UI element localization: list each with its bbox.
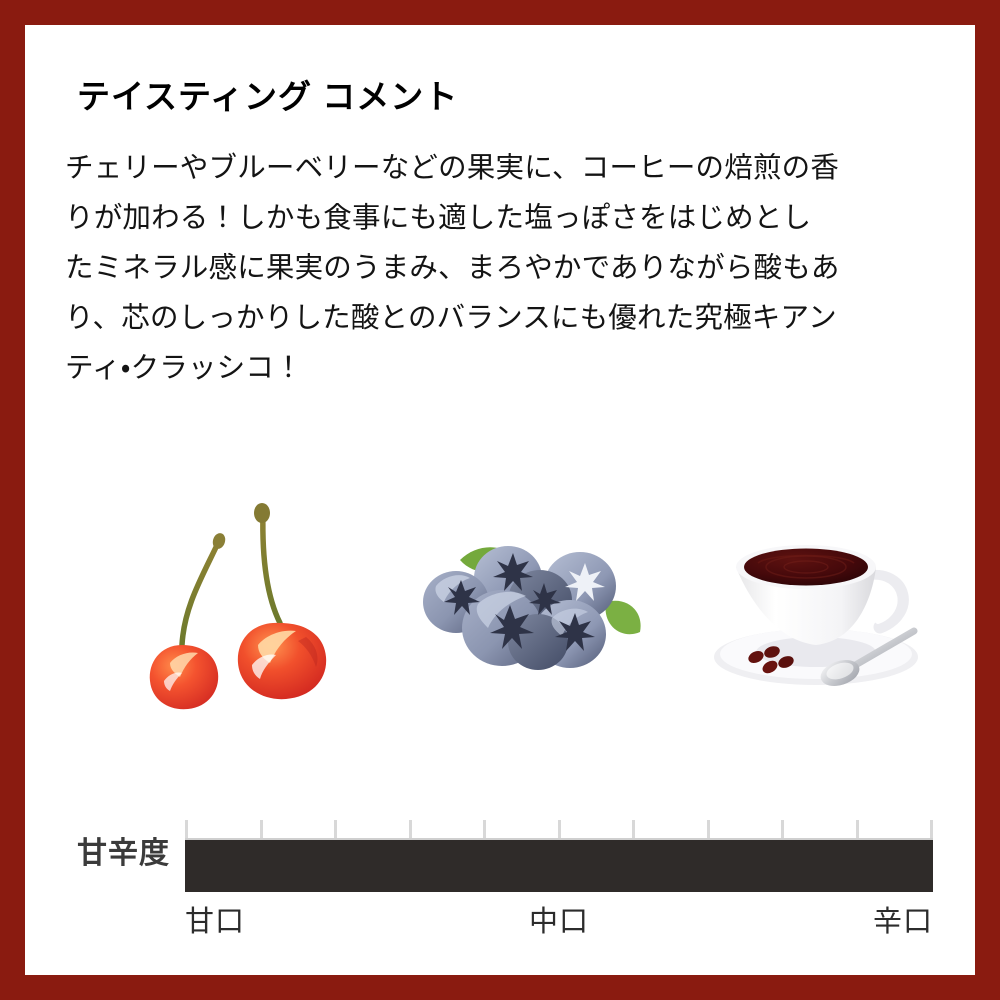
sweetness-scale: 甘辛度 甘口 中口 辛口 <box>25 770 975 920</box>
cherries-illustration <box>140 495 390 715</box>
tasting-comment-line: ティ・クラッシコ！ <box>65 343 955 393</box>
page-title: テイスティング コメント <box>77 70 458 118</box>
scale-label-dry: 辛口 <box>873 898 933 940</box>
tasting-comment-line: り、芯のしっかりした酸とのバランスにも優れた究極キアン <box>65 293 955 343</box>
tasting-comment-line: りが加わる！しかも食事にも適した塩っぽさをはじめとし <box>65 193 955 243</box>
scale-title: 甘辛度 <box>35 828 170 872</box>
coffee-cup-illustration <box>700 535 930 690</box>
scale-label-sweet: 甘口 <box>185 898 245 940</box>
flavor-imagery-row <box>25 455 975 715</box>
bordered-page-frame: テイスティング コメント チェリーやブルーベリーなどの果実に、コーヒーの焙煎の香… <box>0 0 1000 1000</box>
tasting-comment-line: たミネラル感に果実のうまみ、まろやかでありながら酸もあ <box>65 243 955 293</box>
scale-end-labels: 甘口 中口 辛口 <box>185 898 933 942</box>
tasting-comment-text: チェリーやブルーベリーなどの果実に、コーヒーの焙煎の香 りが加わる！しかも食事に… <box>65 143 955 393</box>
blueberries-illustration <box>420 530 655 690</box>
scale-label-medium: 中口 <box>529 898 589 940</box>
scale-bar-fill <box>185 840 933 892</box>
tasting-comment-line: チェリーやブルーベリーなどの果実に、コーヒーの焙煎の香 <box>65 143 955 193</box>
page-content: テイスティング コメント チェリーやブルーベリーなどの果実に、コーヒーの焙煎の香… <box>25 25 975 975</box>
